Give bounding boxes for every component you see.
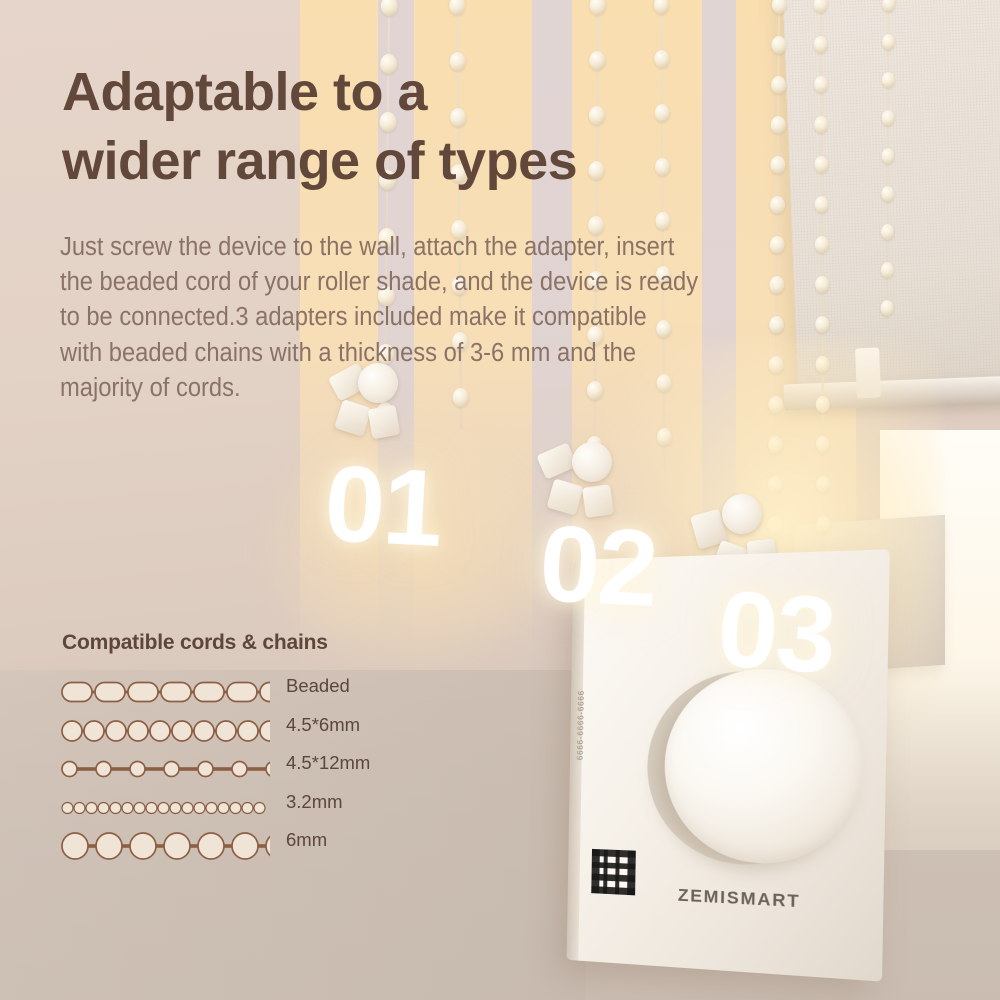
chain-bead-shape: [146, 802, 157, 813]
chain-bead-shape: [227, 683, 257, 702]
step-number-01: 01: [322, 449, 444, 563]
chain-bead-shape: [128, 721, 148, 741]
chain-bead-shape: [62, 683, 92, 702]
chain-bead: [655, 212, 670, 230]
chain-link: [77, 767, 96, 771]
compatibility-label: 3.2mm: [286, 791, 343, 813]
chain-bead-shape: [254, 802, 265, 813]
chain-bead-shape: [194, 721, 214, 741]
body-line-5: majority of cords.: [60, 371, 860, 406]
chain-bead-shape: [242, 802, 253, 813]
chain-bead-shape: [266, 762, 270, 777]
body-line-1: Just screw the device to the wall, attac…: [60, 230, 860, 265]
compatibility-row: 6mm: [60, 826, 460, 865]
chain-bead: [814, 116, 828, 133]
chain-bead-shape: [238, 721, 258, 741]
beaded-chain: [877, 0, 898, 320]
chain-bead-shape: [170, 802, 181, 813]
chain-bead-shape: [216, 721, 236, 741]
chain-bead-shape: [62, 802, 73, 813]
chain-bead-shape: [95, 683, 125, 702]
chain-bead-shape: [96, 833, 122, 859]
chain-diagram-large-bar: [60, 830, 270, 862]
chain-bead: [881, 110, 894, 126]
chain-bead: [589, 106, 605, 125]
chain-bead-shape: [150, 721, 170, 741]
adapter-hub: [572, 442, 612, 482]
body-line-4: with beaded chains with a thickness of 3…: [60, 336, 860, 371]
chain-diagram-tiny-tight: [60, 792, 270, 824]
compatibility-label: 6mm: [286, 829, 327, 851]
chain-bead: [589, 51, 605, 70]
chain-link: [213, 767, 232, 771]
chain-bead: [814, 156, 828, 173]
chain-diagram-round-tight: [60, 715, 270, 747]
chain-link: [247, 767, 266, 771]
chain-bead: [590, 0, 606, 15]
chain-bead: [771, 76, 786, 94]
description-paragraph: Just screw the device to the wall, attac…: [60, 230, 860, 406]
step-number-02: 02: [537, 509, 659, 623]
compatibility-title: Compatible cords & chains: [62, 631, 328, 655]
chain-bead-shape: [130, 762, 145, 777]
headline-line-2: wider range of types: [62, 127, 577, 196]
body-line-2: the beaded cord of your roller shade, an…: [60, 265, 860, 300]
chain-bead-shape: [62, 762, 77, 777]
compatibility-row: Beaded: [60, 672, 460, 711]
chain-link: [179, 767, 198, 771]
chain-bead-shape: [182, 802, 193, 813]
chain-bead: [881, 72, 894, 88]
chain-bead: [769, 196, 784, 214]
chain-bead: [814, 0, 828, 13]
chain-bead-shape: [161, 683, 191, 702]
chain-bead-shape: [74, 802, 85, 813]
chain-bead: [880, 300, 893, 316]
chain-bead: [654, 158, 669, 176]
adapter-flange: [368, 405, 401, 439]
chain-bead: [882, 34, 895, 50]
chain-bead-shape: [198, 833, 224, 859]
chain-link: [111, 767, 130, 771]
chain-bead-shape: [110, 802, 121, 813]
chain-link: [258, 844, 266, 848]
qr-code-icon: [591, 849, 636, 895]
chain-bead-shape: [128, 683, 158, 702]
adapter-hub: [722, 494, 762, 534]
compatibility-row: 4.5*6mm: [60, 711, 460, 750]
chain-bead-shape: [232, 762, 247, 777]
compatibility-list: Beaded4.5*6mm4.5*12mm3.2mm6mm: [60, 672, 460, 865]
chain-bead-shape: [158, 802, 169, 813]
chain-bead: [449, 0, 465, 15]
chain-bead-shape: [98, 802, 109, 813]
chain-bead: [881, 148, 894, 164]
chain-bead: [814, 76, 828, 93]
chain-bead-shape: [84, 721, 104, 741]
chain-link: [88, 844, 96, 848]
device-serial: 6666-6666-6666: [576, 690, 586, 760]
chain-bead: [815, 196, 829, 213]
chain-bead-shape: [62, 833, 88, 859]
chain-bead-shape: [130, 833, 156, 859]
chain-bead-shape: [230, 802, 241, 813]
chain-link: [122, 844, 130, 848]
chain-bead-shape: [134, 802, 145, 813]
chain-bead-shape: [172, 721, 192, 741]
chain-bead: [654, 50, 669, 68]
chain-bead: [380, 0, 397, 16]
chain-bead-shape: [164, 833, 190, 859]
chain-bead: [881, 224, 894, 240]
compatibility-row: 4.5*12mm: [60, 749, 460, 788]
compatibility-label: Beaded: [286, 675, 350, 697]
chain-bead: [881, 186, 894, 202]
chain-bead-shape: [86, 802, 97, 813]
chain-link: [224, 844, 232, 848]
chain-bead-shape: [194, 802, 205, 813]
step-number-03: 03: [714, 574, 837, 690]
chain-bead: [770, 116, 785, 134]
chain-bead: [880, 262, 893, 278]
chain-bead-shape: [62, 721, 82, 741]
chain-bead: [654, 104, 669, 122]
chain-diagram-round-long-bar: [60, 753, 270, 785]
chain-bead-shape: [164, 762, 179, 777]
chain-bead: [814, 36, 828, 53]
chain-bead-shape: [232, 833, 258, 859]
chain-diagram-oval-linked: [60, 676, 270, 708]
compatibility-label: 4.5*12mm: [286, 752, 370, 774]
product-marketing-image: 6666-6666-6666 ZEMISMART 01 02 03 Adapta…: [0, 0, 1000, 1000]
chain-link: [156, 844, 164, 848]
chain-bead-shape: [194, 683, 224, 702]
chain-bead: [653, 0, 668, 14]
chain-bead-shape: [96, 762, 111, 777]
chain-bead-shape: [122, 802, 133, 813]
compatibility-row: 3.2mm: [60, 788, 460, 827]
chain-bead-shape: [106, 721, 126, 741]
chain-bead: [588, 161, 604, 180]
chain-bead-shape: [260, 721, 270, 741]
chain-link: [190, 844, 198, 848]
headline-line-1: Adaptable to a: [62, 58, 577, 127]
chain-bead-shape: [218, 802, 229, 813]
chain-bead-shape: [266, 833, 270, 859]
chain-link: [145, 767, 164, 771]
chain-bead-shape: [198, 762, 213, 777]
body-line-3: to be connected.3 adapters included make…: [60, 300, 860, 335]
chain-bead-shape: [206, 802, 217, 813]
chain-bead: [882, 0, 895, 12]
chain-bead-shape: [260, 683, 270, 702]
chain-bead: [771, 0, 786, 14]
chain-bead: [771, 36, 786, 54]
page-title: Adaptable to a wider range of types: [62, 58, 577, 196]
chain-bead: [770, 156, 785, 174]
compatibility-label: 4.5*6mm: [286, 714, 360, 736]
